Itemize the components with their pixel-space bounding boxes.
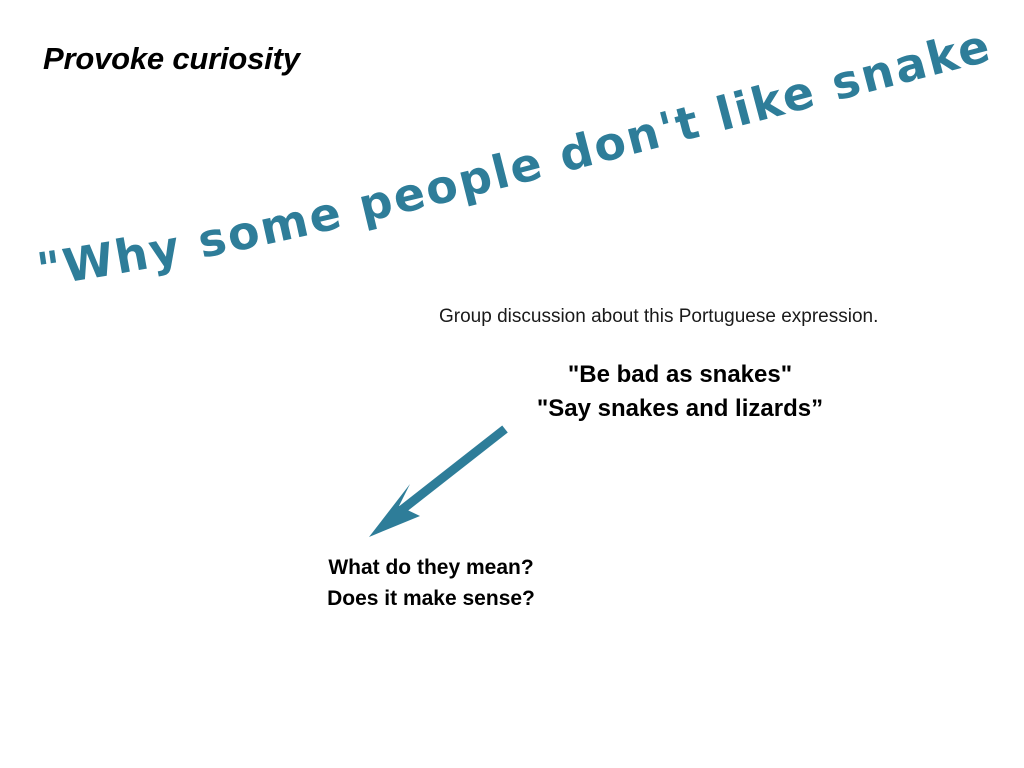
curved-question-textpath: "Why some people don't like snakes? "	[0, 0, 997, 297]
intro-text: Group discussion about this Portuguese e…	[439, 306, 878, 328]
expression-line-1: "Be bad as snakes"	[430, 358, 930, 392]
expressions-block: "Be bad as snakes" "Say snakes and lizar…	[430, 358, 930, 426]
question-line-2: Does it make sense?	[231, 584, 631, 615]
questions-block: What do they mean? Does it make sense?	[231, 553, 631, 615]
curved-question-text: "Why some people don't like snakes? "	[0, 0, 997, 297]
down-left-arrow-icon	[369, 429, 505, 537]
question-line-1: What do they mean?	[231, 553, 631, 584]
expression-line-2: "Say snakes and lizards”	[430, 392, 930, 426]
curved-question-art: "Why some people don't like snakes? "	[0, 0, 1024, 340]
slide-canvas: Provoke curiosity "Why some people don't…	[0, 0, 1024, 768]
